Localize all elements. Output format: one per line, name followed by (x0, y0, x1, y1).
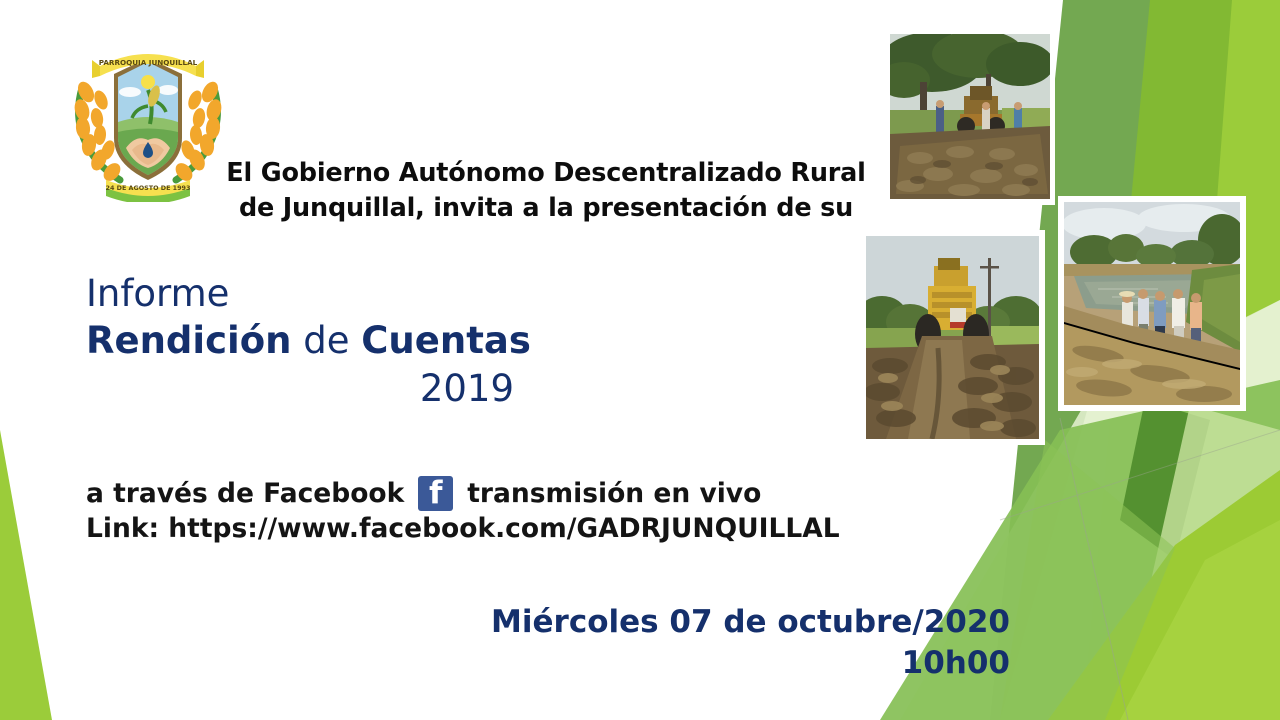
sun-icon (141, 75, 155, 89)
headline-line-2: de Junquillal, invita a la presentación … (186, 191, 906, 226)
photo-group-at-reservoir (1058, 196, 1246, 411)
slide-canvas: PARROQUIA JUNQUILLAL 24 DE AGOSTO DE 199… (0, 0, 1280, 720)
photo-group-at-reservoir-image (1064, 202, 1240, 405)
report-title-year: 2019 (86, 365, 606, 412)
logo-bottom-ribbon: 24 DE AGOSTO DE 1993 (106, 180, 191, 202)
left-green-wedge (0, 430, 52, 720)
facebook-broadcast-block: a través de Facebook transmisión en vivo… (86, 476, 916, 546)
report-title-informe: Informe (86, 270, 606, 317)
photo-road-grading-crew (885, 29, 1055, 205)
event-date: Miércoles 07 de octubre/2020 (491, 604, 1010, 640)
report-title-block: Informe Rendición de Cuentas 2019 (86, 270, 606, 412)
event-datetime-block: Miércoles 07 de octubre/2020 10h00 (400, 602, 1010, 684)
photo-yellow-grader-muddy-road (860, 230, 1045, 445)
report-title-cuentas: Cuentas (361, 319, 531, 362)
facebook-link[interactable]: Link: https://www.facebook.com/GADRJUNQU… (86, 511, 916, 546)
headline-line-1: El Gobierno Autónomo Descentralizado Rur… (226, 158, 865, 188)
report-title-de: de (291, 319, 361, 362)
facebook-icon[interactable] (418, 476, 453, 511)
photo-yellow-grader-image (866, 236, 1039, 439)
logo-ribbon-text: 24 DE AGOSTO DE 1993 (106, 184, 191, 192)
report-title-rendicion-cuentas: Rendición de Cuentas (86, 317, 606, 364)
invitation-headline: El Gobierno Autónomo Descentralizado Rur… (186, 156, 906, 225)
facebook-row: a través de Facebook transmisión en vivo (86, 476, 916, 511)
photo-road-grading-crew-image (890, 34, 1050, 199)
event-time: 10h00 (400, 643, 1010, 684)
facebook-prefix-text: a través de Facebook (86, 476, 404, 511)
shield-emblem (114, 58, 182, 180)
report-title-rendicion: Rendición (86, 319, 291, 362)
facebook-suffix-text: transmisión en vivo (467, 476, 761, 511)
logo-banner-text: PARROQUIA JUNQUILLAL (99, 58, 198, 67)
